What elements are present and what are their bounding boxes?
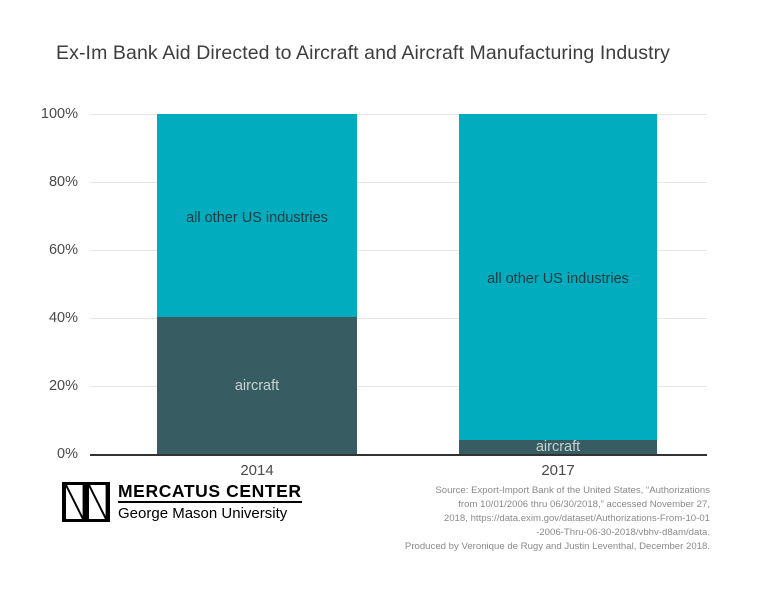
page-title: Ex-Im Bank Aid Directed to Aircraft and … bbox=[56, 42, 736, 65]
x-axis-baseline bbox=[90, 454, 707, 456]
x-tick-label-2014: 2014 bbox=[157, 462, 357, 479]
plot-area: all other US industries aircraft all oth… bbox=[90, 114, 707, 454]
source-line-4: -2006-Thru-06-30-2018/vbhv-d8am/data. bbox=[400, 526, 710, 540]
y-tick-label-80: 80% bbox=[49, 174, 78, 190]
y-tick-label-60: 60% bbox=[49, 242, 78, 258]
bar-segment-other-2017[interactable] bbox=[459, 114, 657, 440]
y-tick-label-100: 100% bbox=[41, 106, 78, 122]
source-note: Source: Export-Import Bank of the United… bbox=[400, 484, 710, 554]
y-tick-label-40: 40% bbox=[49, 310, 78, 326]
logo-title: MERCATUS CENTER bbox=[118, 482, 302, 503]
y-tick-label-0: 0% bbox=[57, 446, 78, 462]
x-tick-label-2017: 2017 bbox=[459, 462, 657, 479]
mercatus-logo: MERCATUS CENTER George Mason University bbox=[62, 482, 302, 523]
bar-segment-aircraft-2017[interactable] bbox=[459, 440, 657, 454]
y-axis: 100% 80% 60% 40% 20% 0% bbox=[0, 114, 78, 454]
logo-subtitle: George Mason University bbox=[118, 503, 302, 522]
source-line-3: 2018, https://data.exim.gov/dataset/Auth… bbox=[400, 512, 710, 526]
mercatus-m-mark-icon bbox=[62, 482, 110, 522]
source-line-2: from 10/01/2006 thru 06/30/2018,” access… bbox=[400, 498, 710, 512]
bar-2014[interactable]: all other US industries aircraft bbox=[157, 114, 357, 454]
bar-segment-aircraft-2014[interactable] bbox=[157, 317, 357, 454]
chart-page: Ex-Im Bank Aid Directed to Aircraft and … bbox=[0, 0, 768, 593]
bar-segment-other-2014[interactable] bbox=[157, 114, 357, 317]
y-tick-label-20: 20% bbox=[49, 378, 78, 394]
source-line-1: Source: Export-Import Bank of the United… bbox=[400, 484, 710, 498]
source-line-5: Produced by Veronique de Rugy and Justin… bbox=[400, 540, 710, 554]
logo-text: MERCATUS CENTER George Mason University bbox=[118, 482, 302, 523]
bar-2017[interactable]: all other US industries aircraft bbox=[459, 114, 657, 454]
